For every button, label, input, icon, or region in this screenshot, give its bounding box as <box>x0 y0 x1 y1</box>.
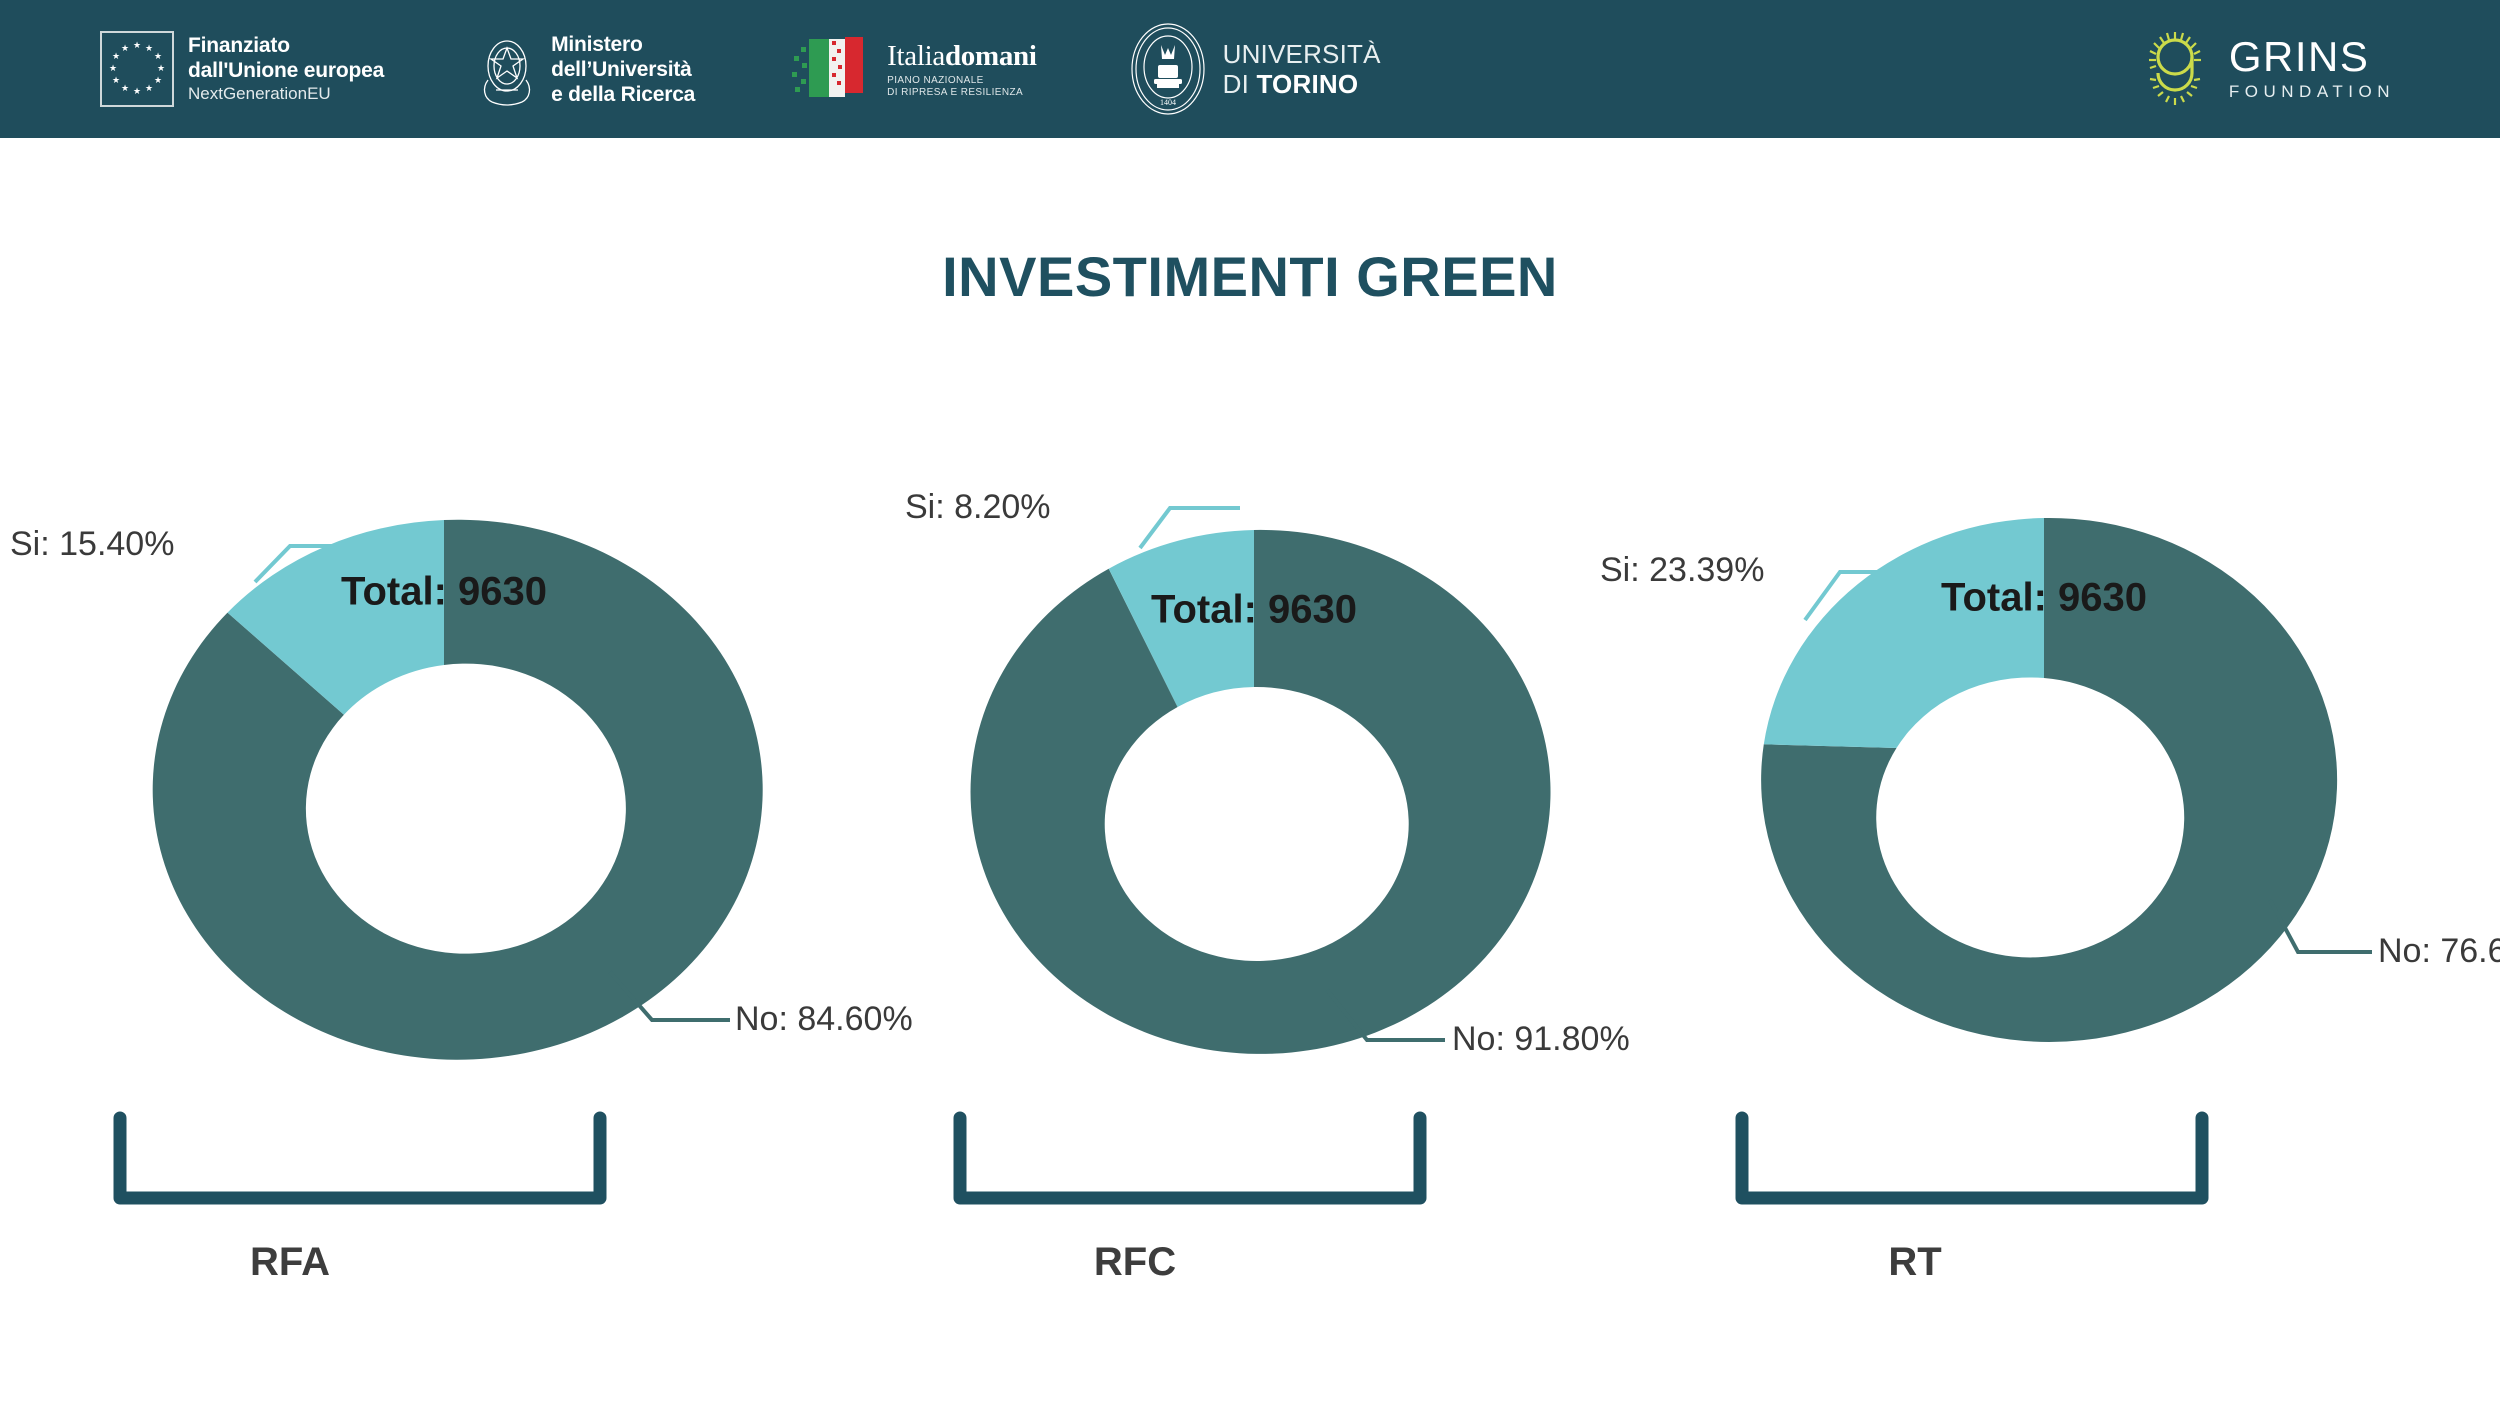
eu-funding-line3: NextGenerationEU <box>188 83 384 105</box>
italian-flag-mark-icon <box>785 29 877 109</box>
grins-foundation-logo: GRINS FOUNDATION <box>2139 27 2395 111</box>
group-label-rt: RT <box>1505 1240 2325 1285</box>
bracket-rfa <box>30 1110 850 1230</box>
unito-text: UNIVERSITÀ DI TORINO <box>1223 39 1381 99</box>
bracket-wrap-rfa: RFA <box>30 1110 850 1340</box>
chart-panel-rfc: Total: 9630 Si: 8.20% No: 91.80% RFC <box>840 420 1660 1340</box>
group-label-rfa: RFA <box>0 1240 700 1285</box>
eu-funding-logo: ★ ★ ★ ★ ★ ★ ★ ★ ★ ★ ★ ★ Finanziato dall'… <box>100 0 384 138</box>
italiadomani-word-light: Italia <box>887 40 945 72</box>
bracket-wrap-rfc: RFC <box>840 1110 1660 1340</box>
donut-slice-si-rt <box>1764 518 2044 748</box>
donut-center-total-rfc: Total: 9630 <box>1151 588 1357 633</box>
italiadomani-logo: Italiadomani PIANO NAZIONALE DI RIPRESA … <box>785 0 1036 138</box>
eu-funding-text: Finanziato dall'Unione europea NextGener… <box>188 33 384 105</box>
donut-label-no-rfc: No: 91.80% <box>1452 1020 1630 1059</box>
grins-text: GRINS FOUNDATION <box>2229 35 2395 103</box>
ministry-line3: e della Ricerca <box>551 82 695 107</box>
donut-label-no-rt: No: 76.61% <box>2378 932 2500 971</box>
ministry-line2: dell’Università <box>551 57 695 82</box>
eu-funding-line2: dall'Unione europea <box>188 58 384 83</box>
eu-flag-icon: ★ ★ ★ ★ ★ ★ ★ ★ ★ ★ ★ ★ <box>100 31 174 107</box>
donut-stage-rfa: Total: 9630 Si: 15.40% No: 84.60% <box>30 420 850 1120</box>
bracket-rfc <box>840 1110 1660 1230</box>
universita-di-torino-logo: 1404 UNIVERSITÀ DI TORINO <box>1127 0 1381 138</box>
donut-label-si-rfa: Si: 15.40% <box>10 525 174 564</box>
donut-chart-row: Total: 9630 Si: 15.40% No: 84.60% RFA To… <box>0 420 2500 1340</box>
unito-line1: UNIVERSITÀ <box>1223 39 1381 69</box>
unito-seal-icon: 1404 <box>1127 21 1209 117</box>
ministry-logo: Ministero dell’Università e della Ricerc… <box>476 0 695 138</box>
italiadomani-text: Italiadomani PIANO NAZIONALE DI RIPRESA … <box>887 40 1036 99</box>
donut-stage-rfc: Total: 9630 Si: 8.20% No: 91.80% <box>840 420 1660 1120</box>
unito-line2-thin: DI <box>1223 69 1257 99</box>
group-label-rfc: RFC <box>725 1240 1545 1285</box>
grins-wordmark: GRINS <box>2229 35 2395 79</box>
italian-republic-emblem-icon <box>476 32 538 106</box>
italiadomani-sub2: DI RIPRESA E RESILIENZA <box>887 87 1036 99</box>
donut-center-total-rt: Total: 9630 <box>1941 576 2147 621</box>
bracket-wrap-rt: RT <box>1650 1110 2470 1340</box>
unito-seal-year: 1404 <box>1160 98 1176 107</box>
donut-label-si-rfc: Si: 8.20% <box>905 488 1051 527</box>
donut-label-si-rt: Si: 23.39% <box>1600 551 1764 590</box>
italiadomani-sub1: PIANO NAZIONALE <box>887 75 1036 87</box>
unito-line2-bold: TORINO <box>1256 69 1358 99</box>
page-title: INVESTIMENTI GREEN <box>0 244 2500 309</box>
grins-g-mark-icon <box>2139 27 2211 111</box>
chart-panel-rfa: Total: 9630 Si: 15.40% No: 84.60% RFA <box>30 420 850 1340</box>
italiadomani-word-bold: domani <box>945 40 1037 72</box>
bracket-rt <box>1650 1110 2470 1230</box>
ministry-text: Ministero dell’Università e della Ricerc… <box>551 32 695 107</box>
eu-funding-line1: Finanziato <box>188 33 384 58</box>
donut-svg-rt <box>1650 420 2470 1120</box>
donut-stage-rt: Total: 9630 Si: 23.39% No: 76.61% <box>1650 420 2470 1120</box>
header-logo-band: ★ ★ ★ ★ ★ ★ ★ ★ ★ ★ ★ ★ Finanziato dall'… <box>0 0 2500 138</box>
ministry-line1: Ministero <box>551 32 695 57</box>
donut-center-total-rfa: Total: 9630 <box>341 570 547 615</box>
chart-panel-rt: Total: 9630 Si: 23.39% No: 76.61% RT <box>1650 420 2470 1340</box>
grins-foundation-sub: FOUNDATION <box>2229 81 2395 103</box>
